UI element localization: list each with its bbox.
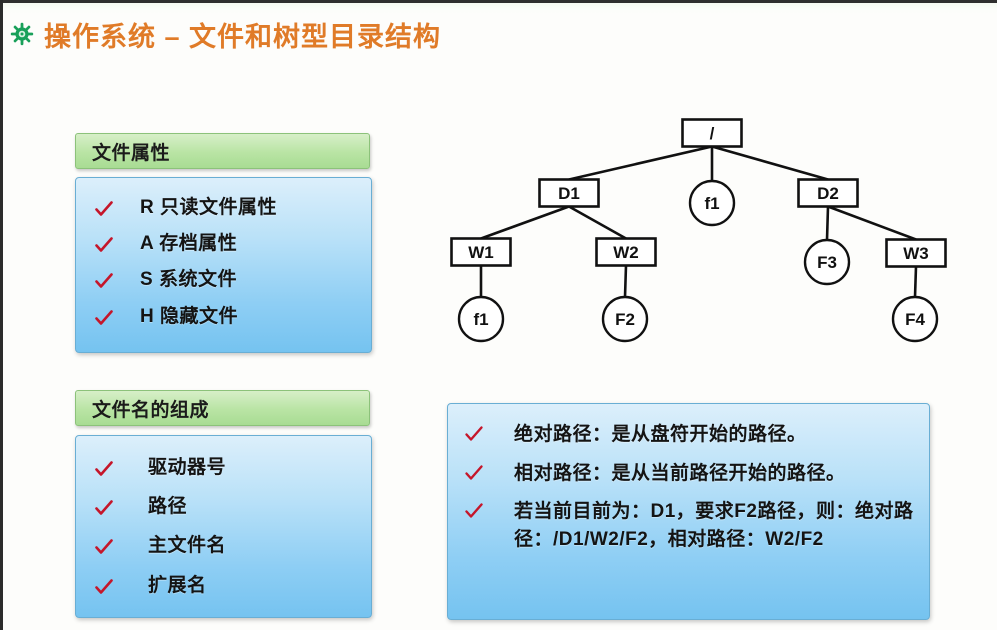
tree-node-w3[interactable]: W3 (887, 240, 946, 267)
list-item: H 隐藏文件 (94, 305, 361, 328)
node-label: f1 (704, 194, 719, 213)
tree-edge (915, 267, 916, 298)
tree-svg: /D1f1D2W1W2F3W3f1F2F4 (430, 100, 990, 370)
tree-node-f1b[interactable]: f1 (459, 297, 503, 341)
list-item-label: 若当前目前为：D1，要求F2路径，则：绝对路径：/D1/W2/F2，相对路径：W… (496, 498, 917, 553)
check-icon (94, 308, 114, 328)
slide-left-border (0, 0, 3, 630)
node-label: f1 (473, 310, 488, 329)
tree-node-d2[interactable]: D2 (799, 180, 858, 207)
card-header-label: 文件属性 (92, 138, 170, 165)
tree-edge (481, 207, 569, 239)
slide-canvas: 操作系统 – 文件和树型目录结构 文件属性 R 只读文件属性 A 存档属性 (0, 0, 997, 630)
flower-ornament-icon (10, 22, 34, 46)
tree-node-w2[interactable]: W2 (597, 239, 656, 266)
check-icon (94, 498, 114, 518)
check-icon (94, 199, 114, 219)
card-body-file-attributes: R 只读文件属性 A 存档属性 S 系统文件 H 隐藏文件 (75, 177, 372, 353)
node-label: F4 (905, 310, 925, 329)
check-icon (464, 424, 484, 444)
tree-node-f3[interactable]: F3 (805, 240, 849, 284)
card-header-label: 文件名的组成 (92, 395, 209, 422)
card-header-filename-composition: 文件名的组成 (75, 390, 370, 426)
tree-node-d1[interactable]: D1 (540, 180, 599, 207)
check-icon (464, 501, 484, 521)
check-icon (94, 235, 114, 255)
list-item-label: 扩展名 (126, 574, 207, 597)
node-label: F3 (817, 253, 837, 272)
check-icon (94, 577, 114, 597)
list-item-label: S 系统文件 (126, 268, 237, 291)
paths-list: 绝对路径：是从盘符开始的路径。 相对路径：是从当前路径开始的路径。 若当前目前为… (464, 421, 917, 553)
list-item-label: H 隐藏文件 (126, 305, 238, 328)
card-body-paths: 绝对路径：是从盘符开始的路径。 相对路径：是从当前路径开始的路径。 若当前目前为… (447, 403, 930, 620)
directory-tree-diagram: /D1f1D2W1W2F3W3f1F2F4 (430, 100, 990, 370)
check-icon (94, 537, 114, 557)
slide-title-row: 操作系统 – 文件和树型目录结构 (10, 12, 441, 56)
tree-edge (569, 147, 712, 180)
tree-edge (828, 207, 916, 240)
tree-edge (827, 207, 828, 241)
list-item: 扩展名 (94, 574, 361, 597)
list-item: A 存档属性 (94, 232, 361, 255)
card-body-filename-composition: 驱动器号 路径 主文件名 扩展名 (75, 435, 372, 618)
node-label: / (710, 124, 715, 143)
check-icon (94, 271, 114, 291)
node-label: W1 (468, 243, 494, 262)
list-item: S 系统文件 (94, 268, 361, 291)
node-label: D2 (817, 184, 839, 203)
filename-composition-list: 驱动器号 路径 主文件名 扩展名 (94, 456, 361, 597)
tree-node-f1a[interactable]: f1 (690, 181, 734, 225)
list-item-label: 相对路径：是从当前路径开始的路径。 (496, 460, 846, 488)
list-item-label: 绝对路径：是从盘符开始的路径。 (496, 421, 807, 449)
file-attributes-list: R 只读文件属性 A 存档属性 S 系统文件 H 隐藏文件 (94, 196, 361, 328)
tree-node-root[interactable]: / (683, 120, 742, 147)
list-item: 驱动器号 (94, 456, 361, 479)
node-label: D1 (558, 184, 580, 203)
node-label: W3 (903, 244, 929, 263)
list-item: 相对路径：是从当前路径开始的路径。 (464, 460, 917, 488)
list-item-label: A 存档属性 (126, 232, 237, 255)
tree-edge (625, 266, 626, 298)
list-item-label: 驱动器号 (126, 456, 226, 479)
tree-node-w1[interactable]: W1 (452, 239, 511, 266)
slide-top-border (0, 0, 997, 3)
check-icon (464, 463, 484, 483)
tree-edge (569, 207, 626, 239)
list-item: 绝对路径：是从盘符开始的路径。 (464, 421, 917, 449)
page-title: 操作系统 – 文件和树型目录结构 (44, 15, 441, 54)
tree-node-f4[interactable]: F4 (893, 297, 937, 341)
tree-node-f2[interactable]: F2 (603, 297, 647, 341)
card-header-file-attributes: 文件属性 (75, 133, 370, 169)
list-item: 若当前目前为：D1，要求F2路径，则：绝对路径：/D1/W2/F2，相对路径：W… (464, 498, 917, 553)
list-item: 主文件名 (94, 534, 361, 557)
tree-edge (712, 147, 828, 180)
tree-nodes: /D1f1D2W1W2F3W3f1F2F4 (452, 120, 946, 342)
list-item: R 只读文件属性 (94, 196, 361, 219)
list-item-label: 主文件名 (126, 534, 226, 557)
list-item-label: 路径 (126, 495, 187, 518)
list-item-label: R 只读文件属性 (126, 196, 277, 219)
node-label: F2 (615, 310, 635, 329)
node-label: W2 (613, 243, 639, 262)
list-item: 路径 (94, 495, 361, 518)
check-icon (94, 459, 114, 479)
